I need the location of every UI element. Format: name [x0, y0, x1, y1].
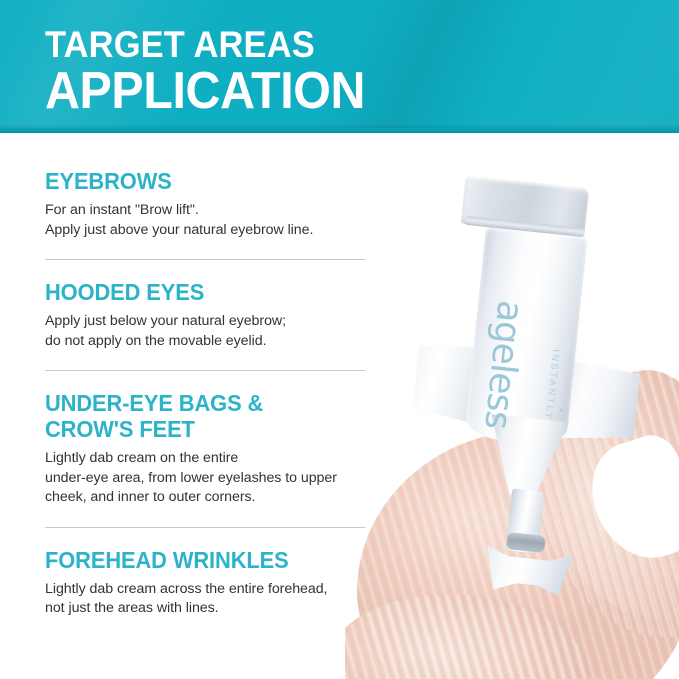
section-body-forehead-wrinkles: Lightly dab cream across the entire fore…	[45, 580, 380, 619]
header-bottom-rule	[0, 131, 679, 133]
application-infographic: TARGET AREAS APPLICATION EYEBROWS For an…	[0, 0, 679, 679]
page-title: TARGET AREAS APPLICATION	[45, 25, 389, 119]
section-body-eyebrows: For an instant "Brow lift". Apply just a…	[45, 201, 380, 240]
product-tube: INSTANTLY ageless	[457, 182, 592, 582]
section-divider-2	[45, 370, 365, 371]
title-line-target-areas: TARGET AREAS	[45, 25, 365, 65]
section-divider-1	[45, 259, 365, 260]
section-heading-forehead-wrinkles: FOREHEAD WRINKLES	[45, 547, 363, 573]
section-divider-3	[45, 527, 365, 528]
section-hooded-eyes: HOODED EYES Apply just below your natura…	[45, 279, 380, 351]
product-image: INSTANTLY ageless	[345, 140, 679, 679]
section-heading-under-eye-line1: UNDER-EYE BAGS &	[45, 390, 363, 416]
section-heading-under-eye-line2: CROW'S FEET	[45, 416, 363, 442]
section-heading-hooded-eyes: HOODED EYES	[45, 279, 363, 305]
section-forehead-wrinkles: FOREHEAD WRINKLES Lightly dab cream acro…	[45, 547, 380, 619]
section-heading-eyebrows: EYEBROWS	[45, 168, 363, 194]
section-body-hooded-eyes: Apply just below your natural eyebrow; d…	[45, 312, 380, 351]
section-under-eye-bags: UNDER-EYE BAGS & CROW'S FEET Lightly dab…	[45, 390, 380, 508]
instructions-list: EYEBROWS For an instant "Brow lift". App…	[45, 140, 380, 619]
title-line-application: APPLICATION	[45, 63, 365, 119]
header-banner: TARGET AREAS APPLICATION	[0, 0, 679, 133]
section-body-under-eye: Lightly dab cream on the entire under-ey…	[45, 449, 380, 508]
section-eyebrows: EYEBROWS For an instant "Brow lift". App…	[45, 168, 380, 240]
